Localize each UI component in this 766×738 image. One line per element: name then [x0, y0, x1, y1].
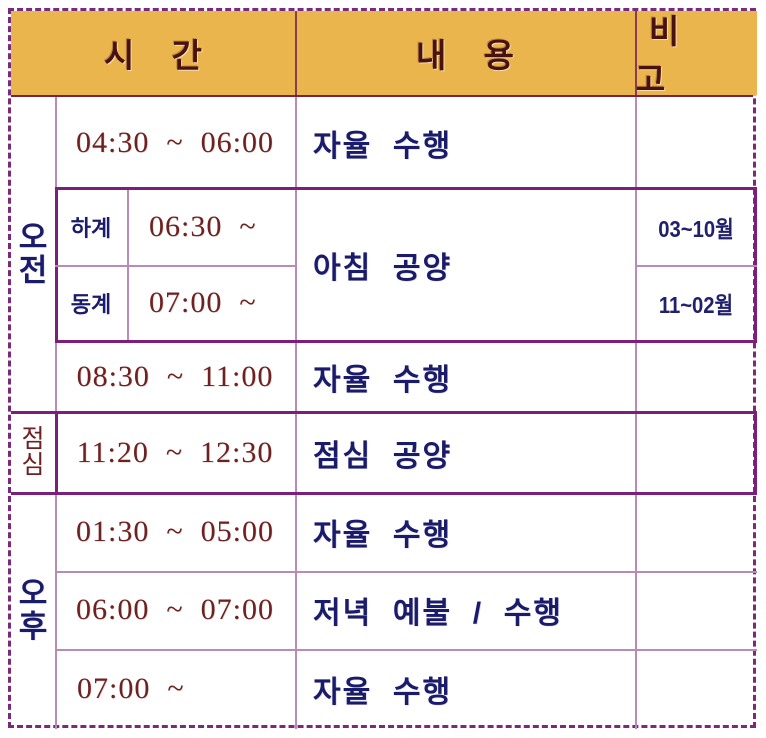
row-4-remark: [642, 341, 749, 413]
row-5-remark: [642, 413, 749, 493]
row-7-content: 저녁 예불 / 수행: [295, 571, 635, 649]
period-label-afternoon-char-1: 오: [19, 578, 48, 611]
period-label-lunch-char-1: 점: [21, 427, 44, 453]
header-cell-content: 내 용: [295, 11, 635, 95]
row-8-time: 07:00 ~: [55, 649, 295, 729]
hrule-below-row-7: [55, 649, 757, 651]
row-3-time: 07:00 ~: [127, 265, 295, 341]
hrule-between-remarks: [635, 265, 757, 267]
schedule-table: 시 간 내 용 비 고 오 전 점 심 오 후 04:30 ~ 06:00 자율…: [8, 8, 756, 728]
row-5-content: 점심 공양: [295, 413, 635, 493]
period-label-morning-char-2: 전: [19, 255, 48, 288]
row-1-content: 자율 수행: [295, 97, 635, 189]
hrule-below-breakfast: [55, 340, 757, 343]
header-divider-1: [295, 11, 297, 95]
header-divider-2: [635, 11, 637, 95]
hrule-between-seasons: [55, 265, 295, 267]
hrule-below-row-1: [55, 187, 757, 190]
row-7-remark: [642, 571, 749, 649]
hrule-below-row-6: [55, 571, 757, 573]
row-2-remark: 03~10월: [642, 189, 749, 265]
row-4-time: 08:30 ~ 11:00: [55, 341, 295, 413]
hrule-above-lunch: [11, 411, 757, 414]
period-label-morning: 오 전: [11, 97, 55, 413]
period-label-morning-char-1: 오: [19, 222, 48, 255]
row-6-remark: [642, 493, 749, 571]
row-2-3-content-breakfast: 아침 공양: [295, 189, 635, 341]
row-4-content: 자율 수행: [295, 341, 635, 413]
hrule-below-lunch: [11, 492, 757, 495]
row-2-season-label: 하계: [55, 189, 127, 265]
row-6-content: 자율 수행: [295, 493, 635, 571]
period-label-afternoon: 오 후: [11, 493, 55, 729]
row-5-time: 11:20 ~ 12:30: [55, 413, 295, 493]
row-1-time: 04:30 ~ 06:00: [55, 97, 295, 189]
row-1-remark: [642, 97, 749, 189]
row-7-time: 06:00 ~ 07:00: [55, 571, 295, 649]
row-8-remark: [642, 649, 749, 729]
vrule-lunch-right: [754, 411, 757, 495]
row-2-time: 06:30 ~: [127, 189, 295, 265]
row-3-season-label: 동계: [55, 265, 127, 341]
period-label-lunch: 점 심: [11, 413, 55, 493]
header-cell-remark: 비 고: [635, 11, 757, 95]
period-label-lunch-char-2: 심: [21, 453, 44, 479]
row-6-time: 01:30 ~ 05:00: [55, 493, 295, 571]
vrule-lunch-left: [55, 411, 58, 495]
schedule-frame: 시 간 내 용 비 고 오 전 점 심 오 후 04:30 ~ 06:00 자율…: [0, 0, 766, 738]
period-label-afternoon-char-2: 후: [19, 611, 48, 644]
row-8-content: 자율 수행: [295, 649, 635, 729]
header-cell-time: 시 간: [11, 11, 295, 95]
row-3-remark: 11~02월: [642, 265, 749, 341]
